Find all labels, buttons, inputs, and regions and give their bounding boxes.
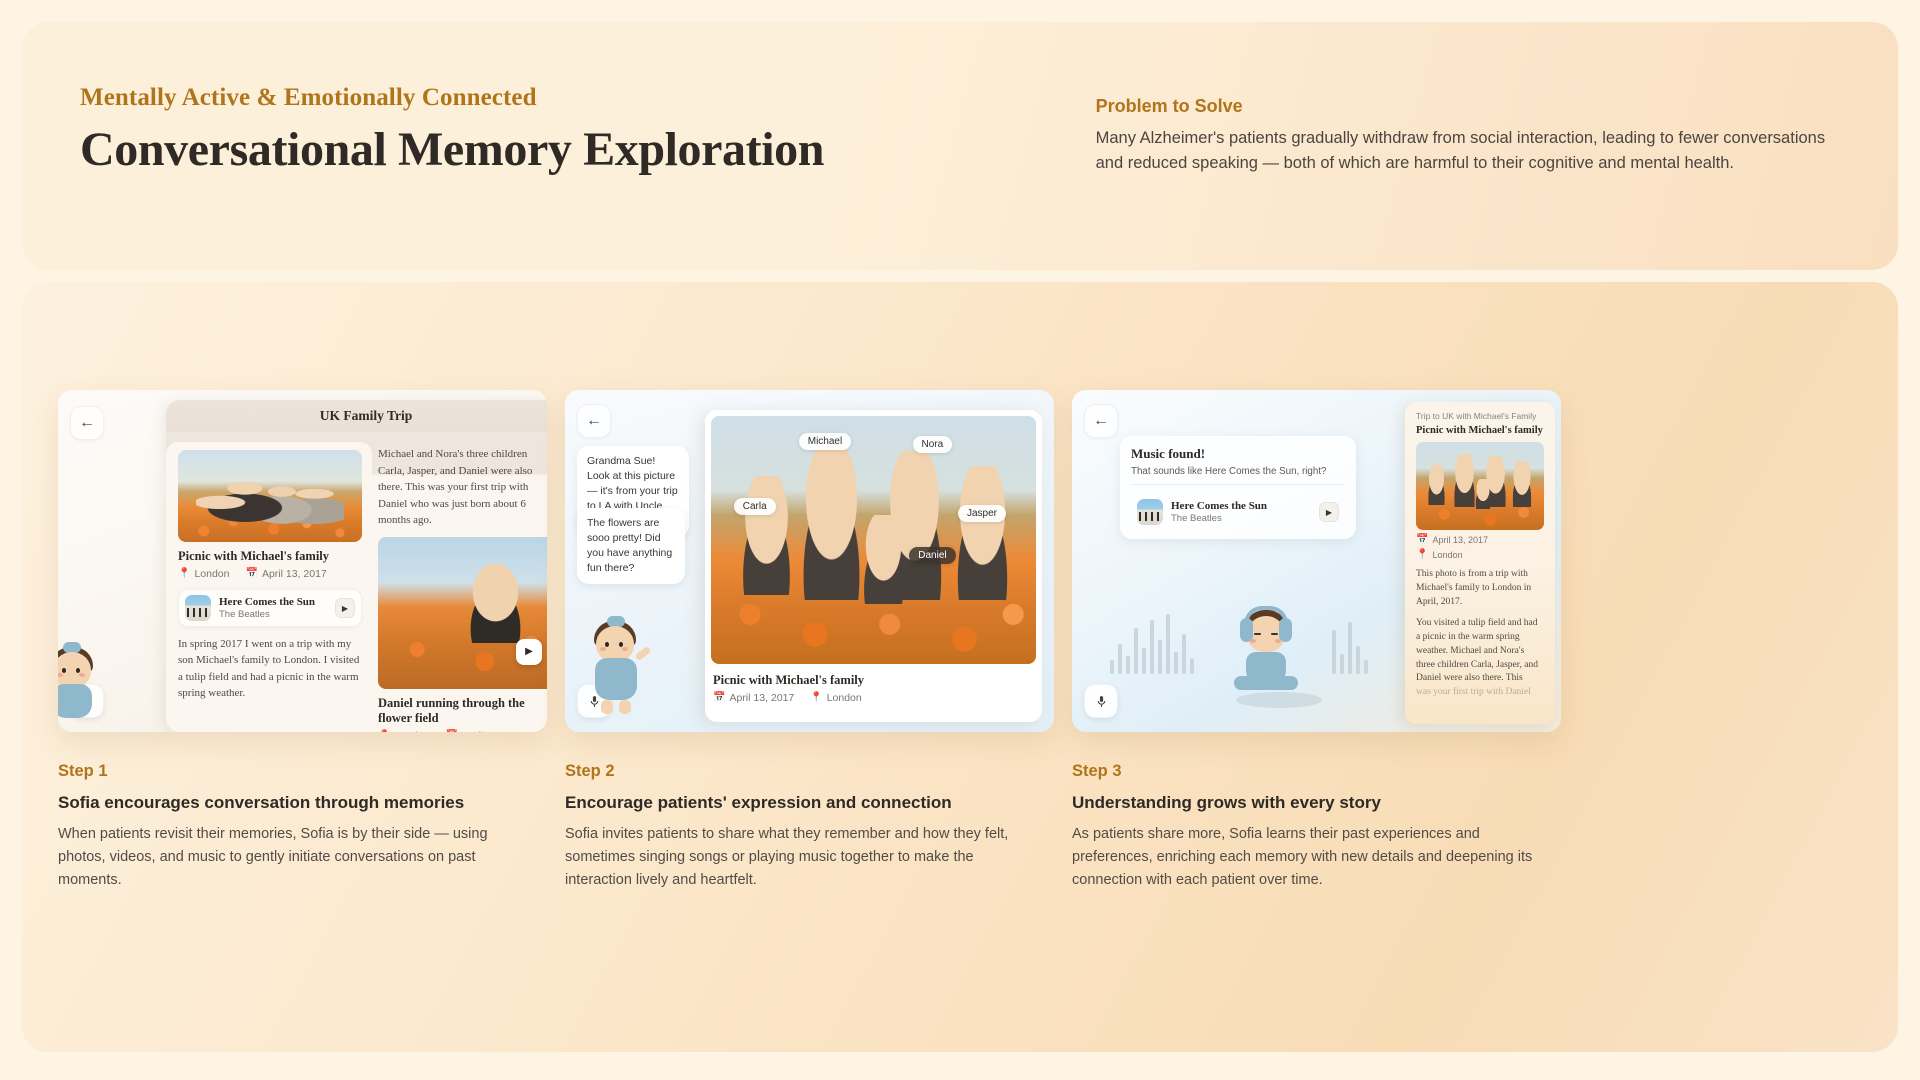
character-body [595, 658, 637, 700]
nametag-carla[interactable]: Carla [734, 498, 776, 515]
calendar-icon: 📅 [446, 731, 458, 733]
waveform-bar [1332, 630, 1336, 674]
location-text: London [827, 692, 862, 704]
location-text: London [194, 568, 229, 580]
audio-waveform [1110, 608, 1194, 674]
character-leg-left [601, 700, 613, 714]
date-text: April 13, 2017 [462, 730, 527, 733]
waveform-bar [1158, 640, 1162, 674]
album-art-icon [1137, 499, 1163, 525]
date-meta: 📅April 13, 2017 [446, 730, 527, 733]
waveform-bar [1118, 644, 1122, 674]
back-arrow-icon[interactable]: ← [1084, 404, 1118, 438]
detail-paragraph-1: This photo is from a trip with Michael's… [1416, 568, 1544, 609]
screenshot-step-3: ← Music found! That sounds like Here Com… [1072, 390, 1561, 732]
memory-sheet-body: Picnic with Michael's family 📍London 📅Ap… [166, 432, 547, 732]
sofia-character-3 [1230, 602, 1300, 710]
video-caption-1: Daniel running through the flower field [378, 696, 547, 726]
music-found-subtitle: That sounds like Here Comes the Sun, rig… [1131, 466, 1345, 477]
character-legs-crossed [1234, 676, 1298, 690]
headphone-band [1244, 606, 1288, 624]
character-eye-right [76, 668, 80, 673]
waveform-bar [1182, 634, 1186, 674]
family-photo-2[interactable]: Michael Nora Carla Jasper Daniel [711, 416, 1036, 664]
detail-location-meta: 📍London [1416, 550, 1544, 560]
person-jasper [1508, 461, 1536, 507]
header-panel: Mentally Active & Emotionally Connected … [22, 22, 1898, 270]
page-title: Conversational Memory Exploration [80, 122, 1066, 177]
screenshot-step-1: ← [58, 390, 547, 732]
step-2-column: ← Grandma Sue! Look at this picture — it… [565, 390, 1054, 732]
back-arrow-icon[interactable]: ← [577, 404, 611, 438]
photo-people [196, 470, 343, 523]
waveform-bar [1174, 652, 1178, 674]
screen-title-1: UK Family Trip [166, 400, 547, 432]
step-captions-row: Step 1 Sofia encourages conversation thr… [58, 762, 1561, 892]
step-kicker: Step 2 [565, 762, 1042, 781]
waveform-bar [1340, 654, 1344, 674]
waveform-bar [1166, 614, 1170, 674]
character-eye-left [1254, 633, 1261, 635]
divider [1131, 484, 1345, 485]
problem-label: Problem to Solve [1096, 96, 1840, 117]
person-jasper [945, 466, 1020, 600]
photo-meta-2: 📅April 13, 2017 📍London [713, 692, 1036, 704]
step-heading: Encourage patients' expression and conne… [565, 793, 1042, 813]
location-meta: 📍London [378, 730, 430, 733]
calendar-icon: 📅 [713, 693, 725, 703]
character-cheek-left [1250, 639, 1256, 643]
play-icon[interactable]: ▶ [516, 639, 542, 665]
waveform-bar [1134, 628, 1138, 674]
date-text: April 13, 2017 [262, 568, 327, 580]
character-eye-right [1271, 633, 1278, 635]
memory-left-column: Picnic with Michael's family 📍London 📅Ap… [166, 442, 372, 732]
nametag-michael[interactable]: Michael [799, 433, 851, 450]
step-1-column: ← [58, 390, 547, 732]
music-found-panel: Music found! That sounds like Here Comes… [1120, 436, 1356, 539]
date-meta: 📅April 13, 2017 [713, 692, 794, 704]
song-title-1: Here Comes the Sun [219, 596, 315, 608]
song-artist-3: The Beatles [1171, 513, 1267, 524]
waveform-bar [1356, 646, 1360, 674]
step-body: Sofia invites patients to share what the… [565, 823, 1042, 892]
back-arrow-icon[interactable]: ← [70, 406, 104, 440]
waveform-bar [1142, 648, 1146, 674]
date-meta: 📅April 13, 2017 [246, 568, 327, 580]
calendar-icon: 📅 [246, 569, 258, 579]
location-pin-icon: 📍 [378, 731, 390, 733]
video-meta-1: 📍London 📅April 13, 2017 [378, 730, 547, 733]
steps-panel: ← [22, 282, 1898, 1052]
step-kicker: Step 3 [1072, 762, 1549, 781]
photo-caption-2: Picnic with Michael's family [713, 673, 1036, 688]
song-info: Here Comes the Sun The Beatles [1171, 500, 1267, 524]
memory-detail-text-1: Michael and Nora's three children Carla,… [378, 446, 547, 529]
character-cheek-left [600, 647, 606, 651]
mic-glyph [1095, 695, 1108, 708]
step-3-column: ← Music found! That sounds like Here Com… [1072, 390, 1561, 732]
nametag-jasper[interactable]: Jasper [958, 505, 1006, 522]
step-heading: Understanding grows with every story [1072, 793, 1549, 813]
audio-waveform-right [1332, 608, 1368, 674]
song-title-3: Here Comes the Sun [1171, 500, 1267, 512]
step-body: As patients share more, Sofia learns the… [1072, 823, 1549, 892]
waveform-bar [1126, 656, 1130, 674]
chat-bubble-2: The flowers are sooo pretty! Did you hav… [577, 508, 685, 584]
screenshot-step-2: ← Grandma Sue! Look at this picture — it… [565, 390, 1054, 732]
step-caption-3: Step 3 Understanding grows with every st… [1072, 762, 1561, 892]
play-icon[interactable]: ▶ [1319, 502, 1339, 522]
sofia-character-2 [585, 616, 647, 726]
character-cheek-right [1275, 639, 1281, 643]
page-root: Mentally Active & Emotionally Connected … [0, 0, 1920, 1080]
character-cheek-right [79, 673, 85, 677]
problem-block: Problem to Solve Many Alzheimer's patien… [1066, 84, 1840, 270]
location-text: London [394, 730, 429, 733]
photo-caption-1: Picnic with Michael's family [178, 549, 362, 564]
person-daniel [854, 515, 913, 604]
detail-paragraph-2: You visited a tulip field and had a picn… [1416, 617, 1544, 686]
location-pin-icon: 📍 [810, 693, 822, 703]
play-icon[interactable]: ▶ [335, 598, 355, 618]
song-info: Here Comes the Sun The Beatles [219, 596, 315, 620]
location-pin-icon: 📍 [178, 569, 190, 579]
header-eyebrow: Mentally Active & Emotionally Connected [80, 84, 1066, 112]
waveform-bar [1348, 622, 1352, 674]
memory-sheet-1: UK Family Trip Picnic with Michael's fam… [166, 400, 547, 732]
music-found-title: Music found! [1131, 446, 1345, 462]
album-art-icon [185, 595, 211, 621]
song-artist-1: The Beatles [219, 609, 315, 620]
location-meta: 📍London [810, 692, 862, 704]
character-cheek-right [622, 647, 628, 651]
waveform-bar [1190, 658, 1194, 674]
person-daniel [1472, 479, 1494, 509]
sofia-character-1 [58, 642, 100, 722]
nametag-nora[interactable]: Nora [913, 436, 953, 453]
location-meta: 📍London [178, 568, 230, 580]
waveform-bar [1110, 660, 1114, 674]
nametag-daniel[interactable]: Daniel [909, 547, 955, 564]
video-subject [456, 564, 534, 643]
music-player-card-1[interactable]: Here Comes the Sun The Beatles ▶ [178, 589, 362, 627]
microphone-icon[interactable] [1084, 684, 1118, 718]
step-caption-2: Step 2 Encourage patients' expression an… [565, 762, 1054, 892]
location-pin-icon: 📍 [1416, 550, 1428, 560]
character-body [58, 684, 92, 718]
detail-date-meta: 📅April 13, 2017 [1416, 535, 1544, 545]
detail-paragraph-3: was your first trip with Daniel [1416, 686, 1544, 700]
step-kicker: Step 1 [58, 762, 535, 781]
family-photo-3[interactable] [1416, 442, 1544, 530]
problem-text: Many Alzheimer's patients gradually with… [1096, 126, 1840, 176]
detail-title: Picnic with Michael's family [1416, 425, 1544, 436]
character-eye-left [62, 668, 66, 673]
location-text: London [1432, 550, 1462, 560]
memory-right-column: Michael and Nora's three children Carla,… [372, 442, 547, 732]
date-text: April 13, 2017 [729, 692, 794, 704]
tagged-photo-panel: Michael Nora Carla Jasper Daniel Picnic … [705, 410, 1042, 722]
screenshots-row: ← [58, 390, 1561, 732]
character-leg-right [619, 700, 631, 714]
character-shadow [1236, 692, 1322, 708]
family-photo-1[interactable] [178, 450, 362, 542]
character-eye-right [619, 642, 623, 647]
person-carla [1424, 465, 1450, 505]
calendar-icon: 📅 [1416, 535, 1428, 545]
memory-detail-panel: Trip to UK with Michael's Family Picnic … [1405, 402, 1555, 724]
music-player-card-3[interactable]: Here Comes the Sun The Beatles ▶ [1131, 494, 1345, 530]
date-text: April 13, 2017 [1432, 535, 1488, 545]
header-left: Mentally Active & Emotionally Connected … [80, 84, 1066, 270]
step-body: When patients revisit their memories, So… [58, 823, 535, 892]
character-eye-left [605, 642, 609, 647]
step-caption-1: Step 1 Sofia encourages conversation thr… [58, 762, 547, 892]
detail-kicker: Trip to UK with Michael's Family [1416, 411, 1544, 421]
narrative-text-1: In spring 2017 I went on a trip with my … [178, 636, 362, 701]
photo-meta-1: 📍London 📅April 13, 2017 [178, 568, 362, 580]
waveform-bar [1150, 620, 1154, 674]
character-head [596, 626, 634, 662]
waveform-bar [1364, 660, 1368, 674]
memory-video-1[interactable]: ▶ [378, 537, 547, 689]
step-heading: Sofia encourages conversation through me… [58, 793, 535, 813]
